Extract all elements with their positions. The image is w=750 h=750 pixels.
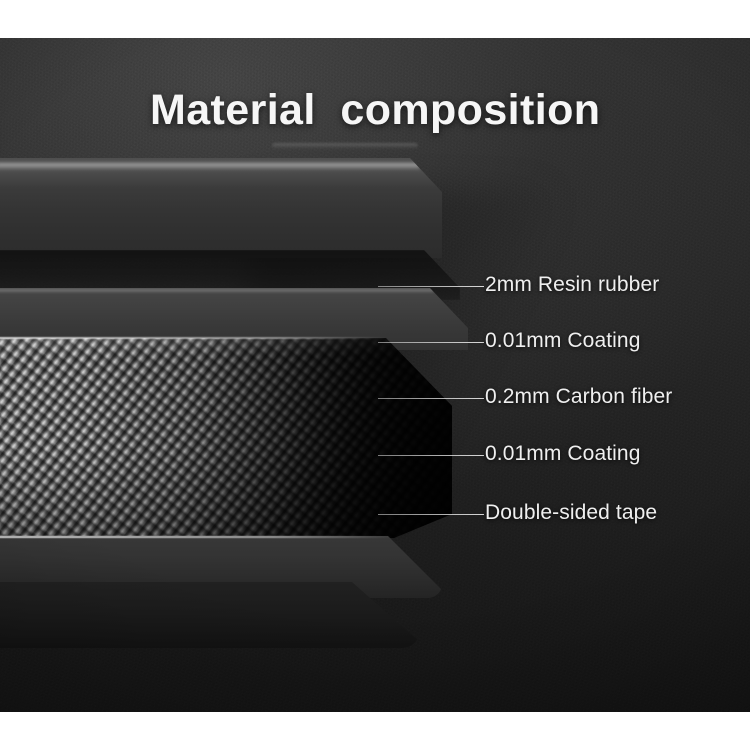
product-infographic: Material composition 2mm Resin rubber 0.… xyxy=(0,0,750,750)
callout-label: 0.01mm Coating xyxy=(485,442,640,466)
leader-line-icon xyxy=(378,342,484,343)
leader-line-icon xyxy=(378,398,484,399)
callout-group: 2mm Resin rubber 0.01mm Coating 0.2mm Ca… xyxy=(0,0,750,750)
top-white-matte xyxy=(0,0,750,38)
callout-label: 0.01mm Coating xyxy=(485,329,640,353)
leader-line-icon xyxy=(378,514,484,515)
bottom-white-matte xyxy=(0,712,750,750)
callout-label: Double-sided tape xyxy=(485,501,657,525)
leader-line-icon xyxy=(378,286,484,287)
callout-label: 2mm Resin rubber xyxy=(485,273,659,297)
callout-label: 0.2mm Carbon fiber xyxy=(485,385,672,409)
leader-line-icon xyxy=(378,455,484,456)
